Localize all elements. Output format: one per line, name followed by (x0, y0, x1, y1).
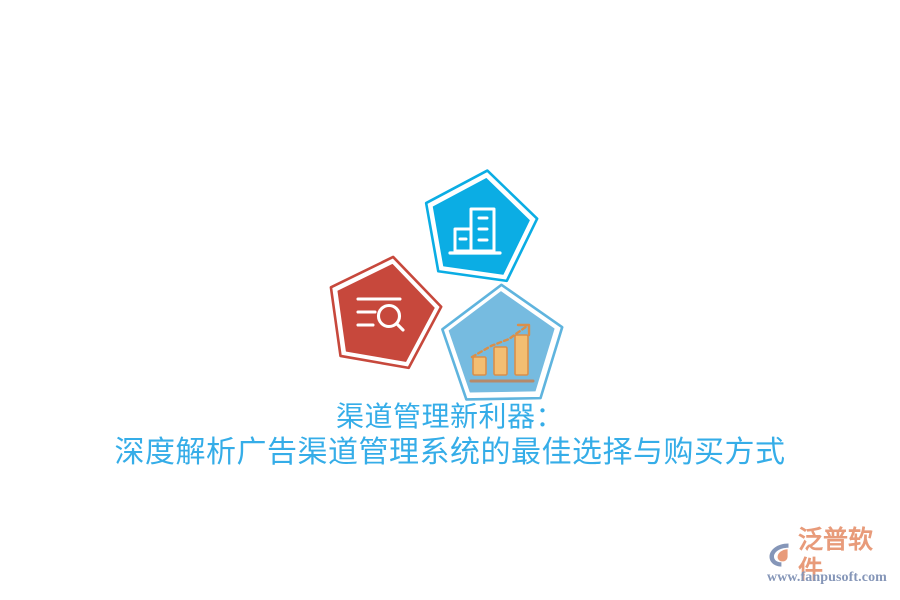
page-title-line-2: 深度解析广告渠道管理系统的最佳选择与购买方式 (0, 437, 900, 469)
pentagon-blue (414, 165, 544, 295)
page-title-line-1: 渠道管理新利器： (0, 402, 900, 432)
pentagon-blue-body (425, 172, 534, 277)
fanpu-logo-icon (766, 540, 796, 570)
pentagon-cluster-graphic (310, 165, 580, 395)
page-title: 渠道管理新利器： 深度解析广告渠道管理系统的最佳选择与购买方式 (0, 402, 900, 470)
brand-url: www.fanpusoft.com (767, 570, 887, 586)
brand-watermark: 泛普软件 www.fanpusoft.com (766, 534, 894, 590)
pentagon-lightblue (432, 277, 572, 417)
brand-logo-row: 泛普软件 (766, 539, 894, 571)
poster-canvas: 渠道管理新利器： 深度解析广告渠道管理系统的最佳选择与购买方式 泛普软件 www… (0, 0, 900, 600)
